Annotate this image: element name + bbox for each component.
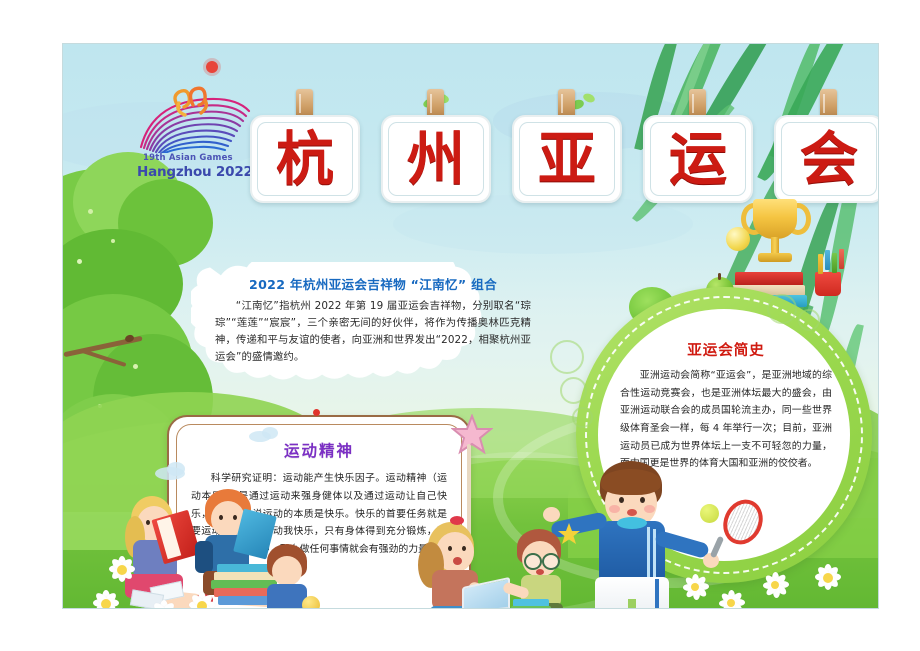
history-panel-body: 亚洲运动会简称“亚运会”，是亚洲地域的综合性运动竞赛会，也是亚洲体坛最大的盛会，… bbox=[620, 367, 832, 473]
boy-mouth-icon bbox=[627, 509, 637, 516]
logo-line-1: 19th Asian Games bbox=[143, 153, 233, 163]
title-char: 州 bbox=[407, 130, 465, 188]
boy-cheek-icon bbox=[644, 505, 655, 513]
daisy-flower-icon bbox=[683, 574, 705, 596]
apple-stem-icon bbox=[718, 273, 721, 280]
title-card: 州 bbox=[381, 115, 491, 203]
books-icon bbox=[511, 606, 551, 608]
wooden-clip-icon bbox=[296, 89, 313, 118]
asian-games-logo: 19th Asian Games Hangzhou 2022 bbox=[135, 85, 255, 190]
boy-hand-icon bbox=[543, 507, 560, 522]
pencil-icon bbox=[825, 250, 830, 270]
leaf-dot-icon bbox=[88, 209, 93, 214]
hair-tie-icon bbox=[450, 516, 464, 525]
cloud-box-body: “江南忆”指杭州 2022 年第 19 届亚运会吉祥物，分别取名“琮琮”“莲莲”… bbox=[215, 298, 531, 365]
red-sun-icon bbox=[206, 61, 218, 73]
boy3-eye-icon bbox=[233, 515, 237, 520]
wooden-clip-icon bbox=[427, 89, 444, 118]
girl-mouth-icon bbox=[453, 557, 462, 565]
cloud-box-title: 2022 年杭州亚运会吉祥物 “江南忆” 组合 bbox=[215, 274, 531, 293]
boy-eye-icon bbox=[640, 497, 645, 503]
wooden-clip-icon bbox=[820, 89, 837, 118]
tennis-ball-icon bbox=[700, 504, 719, 523]
title-char: 会 bbox=[800, 130, 858, 188]
boy-eye-icon bbox=[619, 497, 624, 503]
wooden-clip-icon bbox=[558, 89, 575, 118]
daisy-flower-icon bbox=[93, 590, 119, 608]
history-panel-text: 亚运会简史 亚洲运动会简称“亚运会”，是亚洲地域的综合性运动竞赛会，也是亚洲体坛… bbox=[620, 339, 832, 473]
pencil-icon bbox=[839, 249, 844, 269]
child4-shirt-icon bbox=[267, 584, 307, 608]
ring-bubble-icon bbox=[560, 377, 587, 404]
title-char: 运 bbox=[669, 130, 727, 188]
ring-bubble-icon bbox=[798, 309, 820, 331]
shorts-stripe-icon bbox=[655, 579, 659, 608]
title-char: 杭 bbox=[276, 130, 334, 188]
jersey-collar-icon bbox=[617, 517, 647, 529]
girl-eye-icon bbox=[448, 546, 452, 551]
leaf-dot-icon bbox=[133, 364, 138, 369]
panel-pin-icon bbox=[313, 409, 320, 416]
yellow-star-icon bbox=[557, 522, 581, 546]
daisy-flower-icon bbox=[151, 600, 177, 608]
boy3-backpack-icon bbox=[195, 541, 213, 573]
sports-spirit-title: 运动精神 bbox=[191, 439, 447, 461]
trophy-cup-icon bbox=[753, 199, 797, 239]
boy2-glasses-icon bbox=[524, 553, 542, 570]
child-orange-hair bbox=[259, 544, 329, 608]
boy-cheek-icon bbox=[609, 505, 620, 513]
leaf-dot-icon bbox=[77, 259, 82, 264]
leaf-dot-icon bbox=[111, 239, 115, 243]
daisy-flower-icon bbox=[189, 592, 215, 608]
mascot-cloud-box: 2022 年杭州亚运会吉祥物 “江南忆” 组合 “江南忆”指杭州 2022 年第… bbox=[191, 262, 553, 382]
boy2-glasses-icon bbox=[542, 553, 560, 570]
girl2-eye-icon bbox=[146, 520, 150, 525]
pink-star-icon bbox=[451, 414, 493, 456]
daisy-flower-icon bbox=[109, 556, 135, 582]
daisy-flower-icon bbox=[719, 590, 741, 608]
books-icon bbox=[735, 272, 803, 286]
shorts-gap-icon bbox=[628, 599, 636, 608]
title-card: 运 bbox=[643, 115, 753, 203]
girl-eye-icon bbox=[462, 546, 466, 551]
daisy-flower-icon bbox=[815, 564, 841, 590]
poster-sheet: 19th Asian Games Hangzhou 2022 杭 州 亚 bbox=[63, 44, 878, 608]
child4-head-icon bbox=[272, 556, 302, 586]
panel-cloud-icon bbox=[262, 427, 278, 439]
gold-coin-icon bbox=[302, 596, 320, 608]
cloud-box-text: 2022 年杭州亚运会吉祥物 “江南忆” 组合 “江南忆”指杭州 2022 年第… bbox=[215, 274, 531, 365]
poster-title: 杭 州 亚 运 会 bbox=[250, 89, 878, 199]
trophy-base-icon bbox=[758, 253, 792, 262]
gold-ball-icon bbox=[726, 227, 750, 251]
ring-bubble-icon bbox=[767, 294, 797, 324]
logo-line-2: Hangzhou 2022 bbox=[137, 164, 253, 180]
boy-hair-front-icon bbox=[601, 469, 661, 495]
ring-bubble-icon bbox=[550, 340, 584, 374]
title-card: 亚 bbox=[512, 115, 622, 203]
ring-bubble-icon bbox=[572, 407, 593, 428]
pencil-icon bbox=[818, 254, 823, 274]
daisy-flower-icon bbox=[763, 572, 785, 594]
wooden-clip-icon bbox=[689, 89, 706, 118]
history-panel-title: 亚运会简史 bbox=[620, 339, 832, 360]
logo-fan-icon bbox=[135, 85, 255, 153]
jersey-stripe-icon bbox=[647, 527, 650, 579]
boy3-eye-icon bbox=[219, 515, 223, 520]
screenshot-canvas: 19th Asian Games Hangzhou 2022 杭 州 亚 bbox=[0, 0, 920, 651]
title-char: 亚 bbox=[538, 130, 596, 188]
pencil-icon bbox=[832, 253, 837, 273]
panel-side-cloud-icon bbox=[167, 462, 185, 476]
title-card: 杭 bbox=[250, 115, 360, 203]
